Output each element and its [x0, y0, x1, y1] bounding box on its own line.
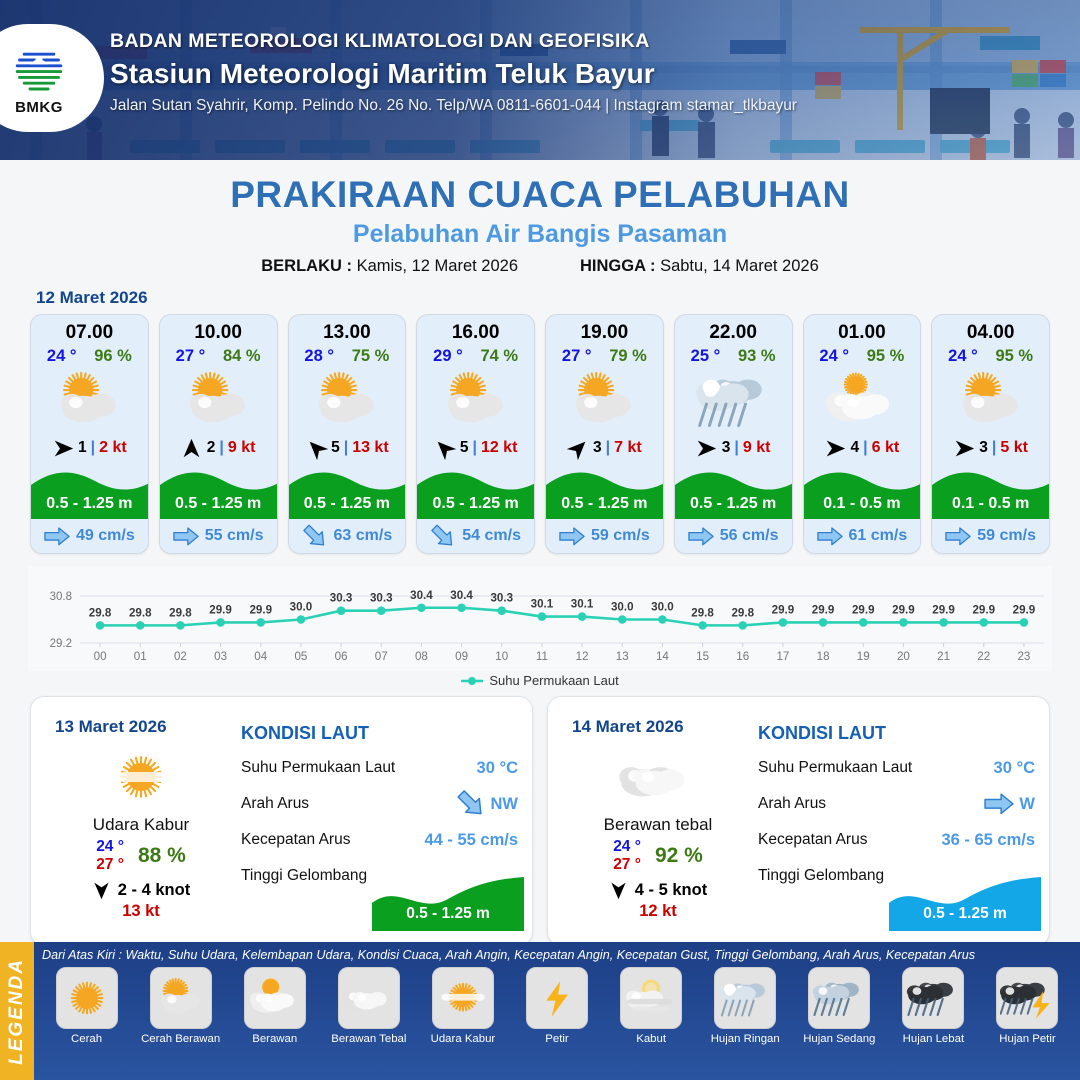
legend-item-label: Hujan Lebat [903, 1033, 964, 1045]
current-direction-arrow-icon [302, 527, 328, 546]
svg-text:30.4: 30.4 [410, 589, 433, 602]
legend-item-label: Cerah Berawan [141, 1033, 220, 1045]
card-temperature: 25 ° [691, 347, 721, 366]
current-direction-arrow-icon [559, 527, 585, 546]
legend-item: Hujan Sedang [795, 967, 884, 1045]
card-wind: 5 | 12 kt [417, 431, 534, 467]
card-time: 16.00 [417, 315, 534, 346]
sea-row-value: 36 - 65 cm/s [941, 831, 1035, 850]
svg-text:11: 11 [536, 650, 548, 663]
legend-content: Dari Atas Kiri : Waktu, Suhu Udara, Kele… [34, 942, 1080, 1080]
wind-gust-speed: 9 kt [743, 439, 771, 457]
sea-row-label: Tinggi Gelombang [758, 867, 884, 885]
card-wind: 3 | 9 kt [675, 431, 792, 467]
wave-height: 0.5 - 1.25 m [160, 495, 277, 513]
wind-direction-arrow-icon [825, 437, 847, 459]
card-current: 61 cm/s [804, 519, 921, 553]
card-time: 01.00 [804, 315, 921, 346]
daily-card: 14 Maret 2026 Berawan tebal 24 ° 27 ° 92… [547, 696, 1050, 946]
wind-separator: | [734, 439, 738, 457]
card-wave: 0.5 - 1.25 m [31, 467, 148, 519]
card-humidity: 93 % [738, 347, 776, 366]
hourly-card: 16.00 29 ° 74 % 5 | 12 kt 0.5 - 1.25 m 5… [416, 314, 535, 554]
page-subtitle: Pelabuhan Air Bangis Pasaman [0, 220, 1080, 249]
page-header: BMKG BADAN METEOROLOGI KLIMATOLOGI DAN G… [0, 0, 1080, 160]
legend-icon-cerah [56, 967, 118, 1029]
legend-side-label: LEGENDA [6, 958, 28, 1065]
legend-items: Cerah Cerah Berawan Berawan Berawan Teba [42, 967, 1072, 1045]
legend-item-label: Udara Kabur [431, 1033, 496, 1045]
wind-scale: 2 [207, 439, 216, 457]
legend-side-tab: LEGENDA [0, 942, 34, 1080]
svg-text:15: 15 [696, 650, 709, 663]
legend-icon-hujan-sedang [808, 967, 870, 1029]
station-name: Stasiun Meteorologi Maritim Teluk Bayur [110, 58, 797, 90]
card-humidity: 75 % [352, 347, 390, 366]
legend-item: Cerah Berawan [136, 967, 225, 1045]
wind-gust-speed: 2 kt [99, 439, 127, 457]
card-temp-hum: 24 ° 95 % [804, 346, 921, 369]
svg-text:30.0: 30.0 [290, 601, 313, 614]
svg-text:29.9: 29.9 [249, 603, 272, 616]
card-wave: 0.5 - 1.25 m [160, 467, 277, 519]
weather-icon-udara-kabur [41, 747, 241, 809]
svg-text:12: 12 [576, 650, 589, 663]
svg-text:08: 08 [415, 650, 428, 663]
sea-row-label: Arah Arus [758, 795, 826, 813]
bmkg-logo-text: BMKG [15, 99, 63, 116]
daily-temp-max: 27 ° [96, 856, 124, 873]
wind-scale: 1 [78, 439, 87, 457]
legend-item: Berawan [230, 967, 319, 1045]
valid-from-value: Kamis, 12 Maret 2026 [357, 257, 518, 275]
daily-wind: 4 - 5 knot [558, 881, 758, 900]
sea-row-value: 30 °C [477, 759, 518, 778]
svg-text:09: 09 [455, 650, 468, 663]
svg-text:30.8: 30.8 [50, 591, 72, 603]
wind-separator: | [472, 439, 476, 457]
card-time: 13.00 [289, 315, 406, 346]
card-temperature: 28 ° [304, 347, 334, 366]
card-current: 54 cm/s [417, 519, 534, 553]
daily-date: 14 Maret 2026 [572, 717, 684, 737]
legend-item-label: Berawan [252, 1033, 297, 1045]
daily-sea-panel: KONDISI LAUT Suhu Permukaan Laut 30 °C A… [241, 723, 518, 894]
wind-separator: | [344, 439, 348, 457]
card-humidity: 95 % [867, 347, 905, 366]
card-temp-hum: 29 ° 74 % [417, 346, 534, 369]
legend-icon-kabut [620, 967, 682, 1029]
svg-text:20: 20 [897, 650, 910, 663]
daily-wave-box: 0.5 - 1.25 m [889, 873, 1041, 931]
wind-separator: | [219, 439, 223, 457]
daily-forecast-row: 13 Maret 2026 Udara Kabur 24 ° 27 ° 88 %… [0, 688, 1080, 946]
validity-block: BERLAKU : Kamis, 12 Maret 2026 HINGGA : … [0, 257, 1080, 276]
legend-item-label: Kabut [636, 1033, 666, 1045]
card-time: 10.00 [160, 315, 277, 346]
wind-gust-speed: 12 kt [481, 439, 517, 457]
svg-text:23: 23 [1017, 650, 1030, 663]
card-wave: 0.5 - 1.25 m [417, 467, 534, 519]
weather-icon-cerah-berawan [160, 369, 277, 431]
hourly-card: 07.00 24 ° 96 % 1 | 2 kt 0.5 - 1.25 m 49… [30, 314, 149, 554]
legend-item-label: Hujan Petir [999, 1033, 1055, 1045]
legend-icon-hujan-petir [996, 967, 1058, 1029]
daily-humidity: 88 % [138, 844, 186, 868]
svg-text:29.9: 29.9 [772, 603, 795, 616]
valid-until: HINGGA : Sabtu, 14 Maret 2026 [580, 257, 819, 276]
card-wind: 4 | 6 kt [804, 431, 921, 467]
current-speed: 61 cm/s [849, 527, 908, 545]
card-temp-hum: 25 ° 93 % [675, 346, 792, 369]
hourly-card: 13.00 28 ° 75 % 5 | 13 kt 0.5 - 1.25 m 6… [288, 314, 407, 554]
daily-gust: 13 kt [41, 902, 241, 921]
daily-wave-height: 0.5 - 1.25 m [889, 905, 1041, 923]
legend-item: Udara Kabur [418, 967, 507, 1045]
wind-gust-speed: 6 kt [872, 439, 900, 457]
hourly-card: 10.00 27 ° 84 % 2 | 9 kt 0.5 - 1.25 m 55… [159, 314, 278, 554]
wave-height: 0.5 - 1.25 m [289, 495, 406, 513]
wave-height: 0.5 - 1.25 m [31, 495, 148, 513]
title-block: PRAKIRAAN CUACA PELABUHAN Pelabuhan Air … [0, 174, 1080, 276]
current-speed: 59 cm/s [977, 527, 1036, 545]
card-wave: 0.5 - 1.25 m [675, 467, 792, 519]
svg-text:29.9: 29.9 [209, 603, 232, 616]
card-wind: 5 | 13 kt [289, 431, 406, 467]
current-speed: 63 cm/s [334, 527, 393, 545]
weather-icon-berawan [804, 369, 921, 431]
svg-text:13: 13 [616, 650, 629, 663]
valid-until-label: HINGGA : [580, 257, 655, 275]
hourly-card: 01.00 24 ° 95 % 4 | 6 kt 0.1 - 0.5 m [803, 314, 922, 554]
card-current: 63 cm/s [289, 519, 406, 553]
legend-item: Cerah [42, 967, 131, 1045]
weather-icon-cerah-berawan [289, 369, 406, 431]
wind-direction-arrow-icon [434, 437, 456, 459]
svg-text:29.9: 29.9 [1013, 603, 1036, 616]
wind-scale: 3 [593, 439, 602, 457]
sea-row-label: Kecepatan Arus [758, 831, 867, 849]
card-current: 49 cm/s [31, 519, 148, 553]
wind-gust-speed: 7 kt [614, 439, 642, 457]
bmkg-logo-mark [10, 40, 68, 98]
valid-from: BERLAKU : Kamis, 12 Maret 2026 [261, 257, 518, 276]
card-wave: 0.1 - 0.5 m [932, 467, 1049, 519]
svg-text:18: 18 [817, 650, 830, 663]
svg-text:10: 10 [495, 650, 508, 663]
card-temp-hum: 24 ° 96 % [31, 346, 148, 369]
sea-row: Kecepatan Arus 36 - 65 cm/s [758, 822, 1035, 858]
card-humidity: 84 % [223, 347, 261, 366]
svg-text:30.1: 30.1 [531, 598, 554, 611]
hourly-card: 04.00 24 ° 95 % 3 | 5 kt 0.1 - 0.5 m 59 … [931, 314, 1050, 554]
daily-humidity: 92 % [655, 844, 703, 868]
card-temperature: 24 ° [948, 347, 978, 366]
card-temp-hum: 27 ° 84 % [160, 346, 277, 369]
svg-text:29.9: 29.9 [892, 603, 915, 616]
daily-condition: Berawan tebal [558, 815, 758, 835]
bmkg-logo: BMKG [0, 24, 104, 132]
daily-sea-panel: KONDISI LAUT Suhu Permukaan Laut 30 °C A… [758, 723, 1035, 894]
legend-icon-cerah-berawan [150, 967, 212, 1029]
card-temperature: 27 ° [176, 347, 206, 366]
sea-row-value: NW [456, 793, 519, 815]
wind-direction-arrow-icon [567, 437, 589, 459]
svg-text:30.3: 30.3 [490, 592, 513, 605]
current-direction-arrow-icon [173, 527, 199, 546]
current-direction-arrow-icon [945, 527, 971, 546]
weather-icon-berawan-tebal [558, 747, 758, 809]
svg-text:29.8: 29.8 [89, 606, 112, 619]
card-humidity: 95 % [995, 347, 1033, 366]
weather-icon-cerah-berawan [417, 369, 534, 431]
weather-icon-cerah-berawan [546, 369, 663, 431]
wind-separator: | [992, 439, 996, 457]
legend-note: Dari Atas Kiri : Waktu, Suhu Udara, Kele… [42, 948, 1072, 962]
current-direction-arrow-icon [688, 527, 714, 546]
current-direction-arrow-icon [44, 527, 70, 546]
current-direction-arrow-icon [430, 527, 456, 546]
svg-text:06: 06 [335, 650, 348, 663]
chart-legend: Suhu Permukaan Laut [0, 673, 1080, 688]
page-title: PRAKIRAAN CUACA PELABUHAN [0, 174, 1080, 216]
hourly-forecast-row: 07.00 24 ° 96 % 1 | 2 kt 0.5 - 1.25 m 49… [0, 314, 1080, 554]
card-wave: 0.5 - 1.25 m [289, 467, 406, 519]
sea-row-label: Suhu Permukaan Laut [241, 759, 395, 777]
legend-icon-udara-kabur [432, 967, 494, 1029]
legend-item: Hujan Lebat [889, 967, 978, 1045]
daily-left-panel: Berawan tebal 24 ° 27 ° 92 % 4 - 5 knot … [558, 747, 758, 921]
legend-item-label: Berawan Tebal [331, 1033, 406, 1045]
sea-row: Suhu Permukaan Laut 30 °C [758, 750, 1035, 786]
sea-row: Kecepatan Arus 44 - 55 cm/s [241, 822, 518, 858]
wind-scale: 3 [722, 439, 731, 457]
svg-text:29.2: 29.2 [50, 638, 72, 650]
sea-conditions-title: KONDISI LAUT [241, 723, 518, 744]
daily-temperatures: 24 ° 27 ° [613, 838, 641, 874]
card-current: 55 cm/s [160, 519, 277, 553]
wave-height: 0.1 - 0.5 m [932, 495, 1049, 513]
legend-icon-hujan-ringan [714, 967, 776, 1029]
daily-wind-speed: 2 - 4 knot [118, 881, 190, 900]
svg-text:30.1: 30.1 [571, 598, 594, 611]
card-time: 19.00 [546, 315, 663, 346]
card-temperature: 27 ° [562, 347, 592, 366]
current-direction-arrow-icon [817, 527, 843, 546]
current-speed: 54 cm/s [462, 527, 521, 545]
wave-height: 0.5 - 1.25 m [546, 495, 663, 513]
daily-wave-box: 0.5 - 1.25 m [372, 873, 524, 931]
sst-chart-svg: 30.829.229.80029.80129.80229.90329.90430… [28, 566, 1052, 671]
wind-gust-speed: 13 kt [352, 439, 388, 457]
current-speed: 56 cm/s [720, 527, 779, 545]
legend-icon-hujan-lebat [902, 967, 964, 1029]
card-wind: 1 | 2 kt [31, 431, 148, 467]
svg-text:29.8: 29.8 [691, 606, 714, 619]
legend-icon-berawan [244, 967, 306, 1029]
svg-text:29.8: 29.8 [731, 606, 754, 619]
legend-item: Petir [512, 967, 601, 1045]
legend-item: Hujan Ringan [701, 967, 790, 1045]
current-speed: 55 cm/s [205, 527, 264, 545]
daily-left-panel: Udara Kabur 24 ° 27 ° 88 % 2 - 4 knot 13… [41, 747, 241, 921]
svg-text:16: 16 [736, 650, 749, 663]
chart-legend-label: Suhu Permukaan Laut [489, 673, 618, 688]
wind-direction-arrow-icon [52, 437, 74, 459]
daily-temperatures: 24 ° 27 ° [96, 838, 124, 874]
arrow-w-icon [984, 793, 1014, 815]
svg-text:29.9: 29.9 [932, 603, 955, 616]
svg-text:30.0: 30.0 [651, 601, 674, 614]
legend-item: Hujan Petir [983, 967, 1072, 1045]
daily-wind: 2 - 4 knot [41, 881, 241, 900]
legend-icon-petir [526, 967, 588, 1029]
card-current: 59 cm/s [546, 519, 663, 553]
daily-date: 13 Maret 2026 [55, 717, 167, 737]
wind-direction-arrow-icon [609, 881, 628, 900]
wind-separator: | [606, 439, 610, 457]
current-speed: 59 cm/s [591, 527, 650, 545]
sea-row-label: Kecepatan Arus [241, 831, 350, 849]
svg-text:21: 21 [937, 650, 950, 663]
svg-text:05: 05 [294, 650, 307, 663]
wind-direction-arrow-icon [92, 881, 111, 900]
wave-height: 0.5 - 1.25 m [675, 495, 792, 513]
daily-temp-min: 24 ° [613, 838, 641, 855]
daily-temp-min: 24 ° [96, 838, 124, 855]
svg-text:04: 04 [254, 650, 267, 663]
sea-row-value: 30 °C [994, 759, 1035, 778]
svg-text:22: 22 [977, 650, 990, 663]
wind-scale: 5 [331, 439, 340, 457]
svg-text:19: 19 [857, 650, 870, 663]
legend-item-label: Hujan Ringan [711, 1033, 780, 1045]
sea-row-label: Arah Arus [241, 795, 309, 813]
wind-separator: | [91, 439, 95, 457]
daily-card: 13 Maret 2026 Udara Kabur 24 ° 27 ° 88 %… [30, 696, 533, 946]
card-humidity: 74 % [480, 347, 518, 366]
svg-text:00: 00 [94, 650, 107, 663]
card-wind: 3 | 5 kt [932, 431, 1049, 467]
wind-separator: | [863, 439, 867, 457]
legend-item: Kabut [607, 967, 696, 1045]
daily-wave-height: 0.5 - 1.25 m [372, 905, 524, 923]
wind-direction-arrow-icon [953, 437, 975, 459]
svg-text:02: 02 [174, 650, 187, 663]
card-temperature: 24 ° [47, 347, 77, 366]
svg-text:07: 07 [375, 650, 388, 663]
svg-text:29.9: 29.9 [972, 603, 995, 616]
card-humidity: 96 % [94, 347, 132, 366]
legend-bar: LEGENDA Dari Atas Kiri : Waktu, Suhu Uda… [0, 942, 1080, 1080]
sea-row: Arah Arus NW [241, 786, 518, 822]
card-temp-hum: 28 ° 75 % [289, 346, 406, 369]
legend-item: Berawan Tebal [324, 967, 413, 1045]
weather-icon-cerah-berawan [932, 369, 1049, 431]
sea-row-label: Suhu Permukaan Laut [758, 759, 912, 777]
svg-text:30.4: 30.4 [450, 589, 473, 602]
sea-row-label: Tinggi Gelombang [241, 867, 367, 885]
daily-temp-hum: 24 ° 27 ° 88 % [41, 838, 241, 874]
wind-direction-arrow-icon [305, 437, 327, 459]
sst-chart: 30.829.229.80029.80129.80229.90329.90430… [28, 566, 1052, 671]
legend-item-label: Petir [545, 1033, 568, 1045]
wind-gust-speed: 9 kt [228, 439, 256, 457]
sea-conditions-title: KONDISI LAUT [758, 723, 1035, 744]
valid-until-value: Sabtu, 14 Maret 2026 [660, 257, 819, 275]
svg-text:29.8: 29.8 [169, 606, 192, 619]
agency-name: BADAN METEOROLOGI KLIMATOLOGI DAN GEOFIS… [110, 30, 797, 53]
hourly-card: 19.00 27 ° 79 % 3 | 7 kt 0.5 - 1.25 m 59… [545, 314, 664, 554]
wave-height: 0.5 - 1.25 m [417, 495, 534, 513]
legend-item-label: Hujan Sedang [803, 1033, 875, 1045]
svg-text:17: 17 [776, 650, 789, 663]
card-temperature: 24 ° [819, 347, 849, 366]
card-current: 56 cm/s [675, 519, 792, 553]
current-speed: 49 cm/s [76, 527, 135, 545]
card-wind: 3 | 7 kt [546, 431, 663, 467]
daily-temp-hum: 24 ° 27 ° 92 % [558, 838, 758, 874]
sea-row: Arah Arus W [758, 786, 1035, 822]
card-wind: 2 | 9 kt [160, 431, 277, 467]
card-time: 22.00 [675, 315, 792, 346]
wind-scale: 4 [851, 439, 860, 457]
card-wave: 0.1 - 0.5 m [804, 467, 921, 519]
legend-marker-icon [461, 676, 483, 686]
card-temp-hum: 27 ° 79 % [546, 346, 663, 369]
hourly-date-label: 12 Maret 2026 [36, 288, 1080, 308]
daily-condition: Udara Kabur [41, 815, 241, 835]
sea-row: Suhu Permukaan Laut 30 °C [241, 750, 518, 786]
svg-text:30.3: 30.3 [370, 592, 393, 605]
svg-text:01: 01 [134, 650, 147, 663]
sea-row-value: W [984, 793, 1035, 815]
weather-icon-cerah-berawan [31, 369, 148, 431]
daily-temp-max: 27 ° [613, 856, 641, 873]
weather-icon-hujan-ringan [675, 369, 792, 431]
svg-text:30.0: 30.0 [611, 601, 634, 614]
card-temp-hum: 24 ° 95 % [932, 346, 1049, 369]
card-current: 59 cm/s [932, 519, 1049, 553]
daily-gust: 12 kt [558, 902, 758, 921]
svg-text:03: 03 [214, 650, 227, 663]
card-temperature: 29 ° [433, 347, 463, 366]
hourly-card: 22.00 25 ° 93 % 3 | 9 kt 0.5 - 1.25 m [674, 314, 793, 554]
svg-text:14: 14 [656, 650, 669, 663]
contact-info: Jalan Sutan Syahrir, Komp. Pelindo No. 2… [110, 97, 797, 115]
daily-wind-speed: 4 - 5 knot [635, 881, 707, 900]
svg-text:29.8: 29.8 [129, 606, 152, 619]
wind-gust-speed: 5 kt [1000, 439, 1028, 457]
arrow-nw-icon [456, 793, 486, 815]
wind-scale: 5 [460, 439, 469, 457]
valid-from-label: BERLAKU : [261, 257, 352, 275]
wind-direction-arrow-icon [181, 437, 203, 459]
wave-height: 0.1 - 0.5 m [804, 495, 921, 513]
legend-icon-berawan-tebal [338, 967, 400, 1029]
wind-direction-arrow-icon [696, 437, 718, 459]
card-humidity: 79 % [609, 347, 647, 366]
wind-scale: 3 [979, 439, 988, 457]
svg-text:30.3: 30.3 [330, 592, 353, 605]
svg-text:29.9: 29.9 [852, 603, 875, 616]
card-time: 04.00 [932, 315, 1049, 346]
card-wave: 0.5 - 1.25 m [546, 467, 663, 519]
sea-row-value: 44 - 55 cm/s [424, 831, 518, 850]
svg-text:29.9: 29.9 [812, 603, 835, 616]
header-text-block: BADAN METEOROLOGI KLIMATOLOGI DAN GEOFIS… [110, 30, 797, 115]
card-time: 07.00 [31, 315, 148, 346]
